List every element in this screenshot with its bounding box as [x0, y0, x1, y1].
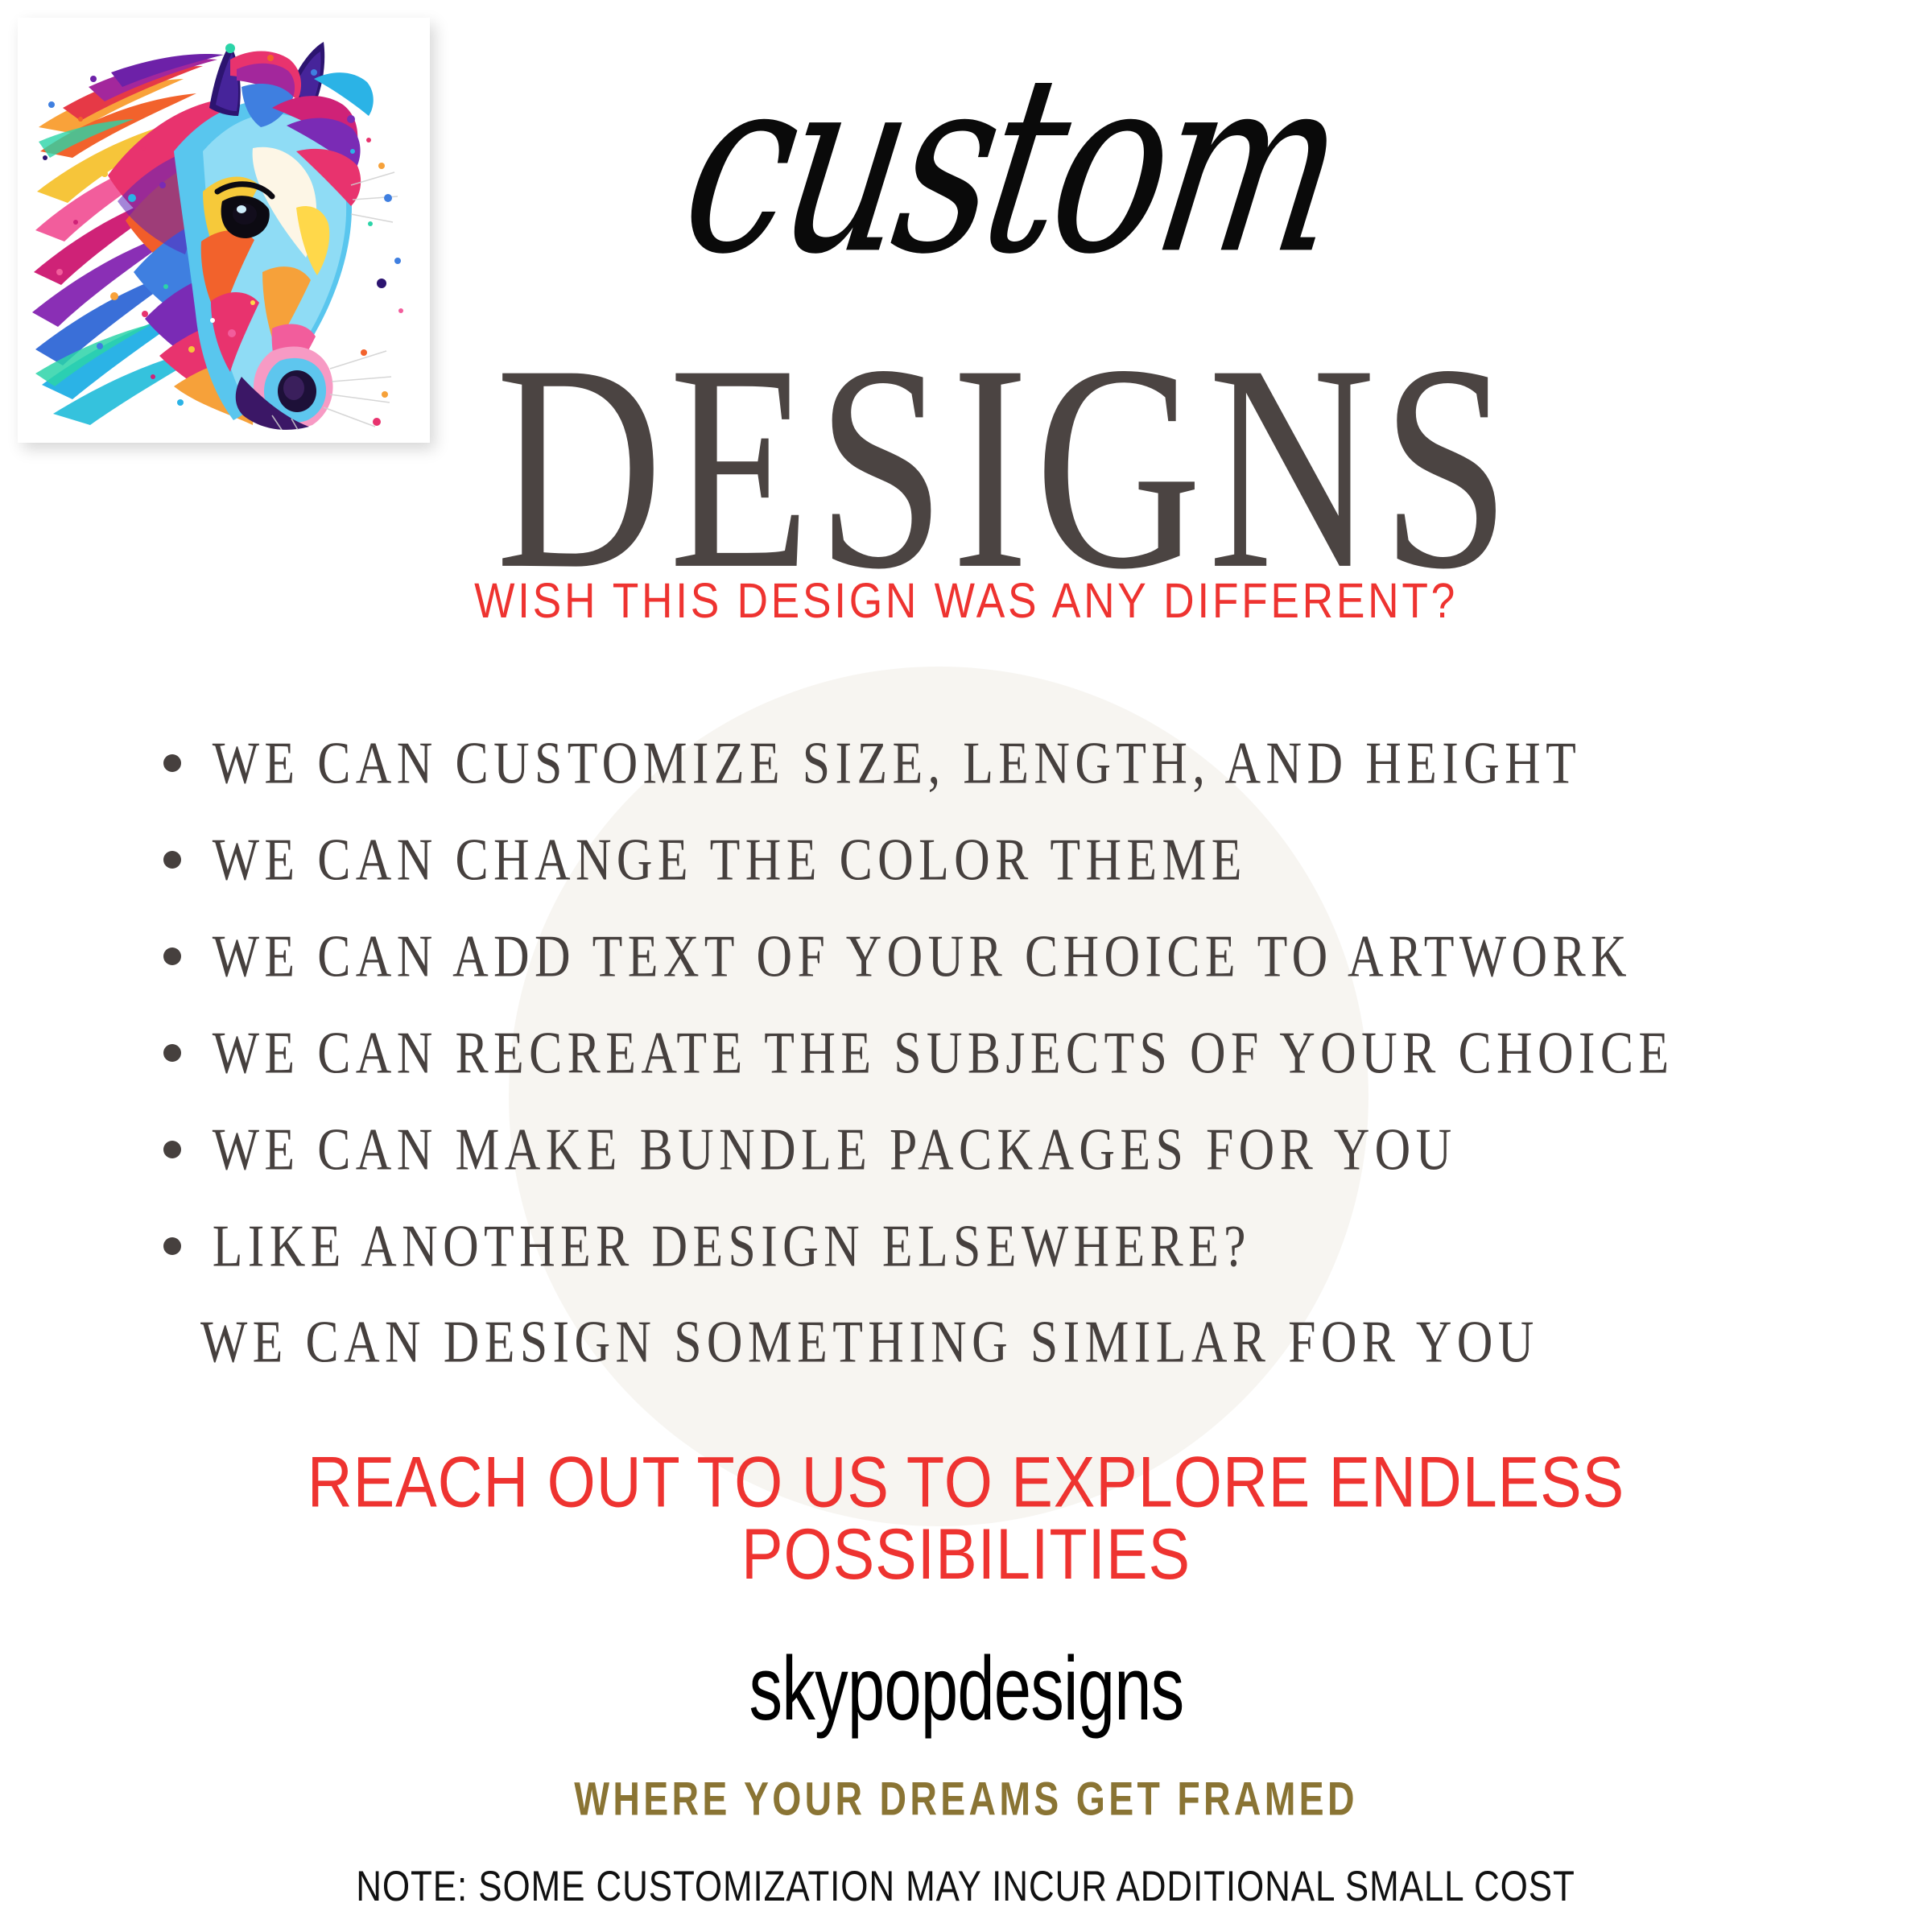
list-item: WE CAN CHANGE THE COLOR THEME — [0, 811, 1932, 908]
list-item-label: WE CAN ADD TEXT OF YOUR CHOICE TO ARTWOR… — [161, 927, 1632, 986]
brand-slogan: WHERE YOUR DREAMS GET FRAMED — [0, 1777, 1932, 1821]
promo-poster: custom DESIGNS WISH THIS DESIGN WAS ANY … — [0, 0, 1932, 1932]
list-item: WE CAN RECREATE THE SUBJECTS OF YOUR CHO… — [0, 1005, 1932, 1101]
list-item-continuation: WE CAN DESIGN SOMETHING SIMILAR FOR YOU — [0, 1294, 1932, 1389]
designs-text: DESIGNS — [416, 320, 1517, 614]
tagline-text: WISH THIS DESIGN WAS ANY DIFFERENT? — [474, 576, 1458, 625]
list-item-label: WE CAN CUSTOMIZE SIZE, LENGTH, AND HEIGH… — [161, 733, 1581, 793]
disclaimer-note-text: NOTE: SOME CUSTOMIZATION MAY INCUR ADDIT… — [357, 1865, 1575, 1908]
list-item: WE CAN ADD TEXT OF YOUR CHOICE TO ARTWOR… — [0, 908, 1932, 1005]
tagline: WISH THIS DESIGN WAS ANY DIFFERENT? — [0, 578, 1932, 625]
list-item-label: LIKE ANOTHER DESIGN ELSEWHERE? — [161, 1216, 1251, 1276]
call-to-action: REACH OUT TO US TO EXPLORE ENDLESS POSSI… — [0, 1449, 1932, 1587]
brand-logo: skypopdesigns — [0, 1647, 1932, 1731]
list-item-label: WE CAN MAKE BUNDLE PACKAGES FOR YOU — [161, 1120, 1457, 1179]
list-item: WE CAN MAKE BUNDLE PACKAGES FOR YOU — [0, 1101, 1932, 1198]
brand-name-text: skypopdesigns — [749, 1644, 1183, 1734]
list-item-label: WE CAN CHANGE THE COLOR THEME — [161, 830, 1247, 890]
list-item: LIKE ANOTHER DESIGN ELSEWHERE? — [0, 1198, 1932, 1294]
disclaimer-note: NOTE: SOME CUSTOMIZATION MAY INCUR ADDIT… — [0, 1866, 1932, 1906]
benefits-list: WE CAN CUSTOMIZE SIZE, LENGTH, AND HEIGH… — [0, 715, 1932, 1389]
list-item-label: WE CAN RECREATE THE SUBJECTS OF YOUR CHO… — [161, 1023, 1674, 1083]
list-item: WE CAN CUSTOMIZE SIZE, LENGTH, AND HEIGH… — [0, 715, 1932, 811]
headline-main-word: DESIGNS — [0, 320, 1932, 554]
list-item-label: WE CAN DESIGN SOMETHING SIMILAR FOR YOU — [161, 1312, 1539, 1372]
brand-slogan-text: WHERE YOUR DREAMS GET FRAMED — [574, 1776, 1358, 1823]
call-to-action-text: REACH OUT TO US TO EXPLORE ENDLESS POSSI… — [97, 1447, 1835, 1591]
custom-script-text: custom — [619, 43, 1352, 288]
